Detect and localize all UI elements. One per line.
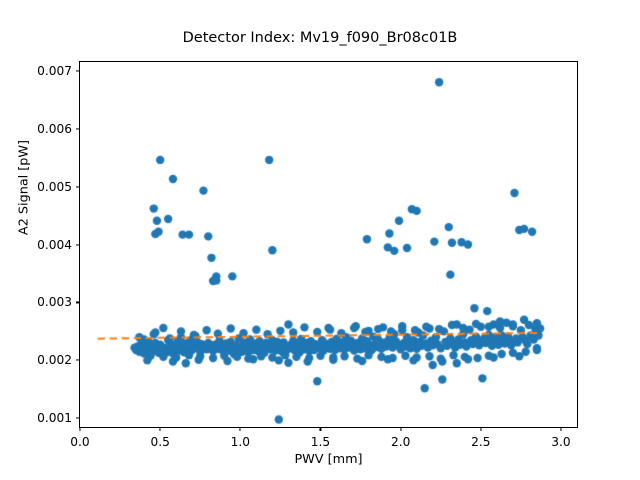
x-tick-label: 2.0	[391, 427, 410, 449]
x-tick-label: 0.0	[70, 427, 89, 449]
y-axis-label: A2 Signal [pW]	[17, 38, 32, 338]
x-tick-label: 1.5	[311, 427, 330, 449]
y-tick-label: 0.006	[37, 122, 80, 136]
x-tick-label: 2.5	[471, 427, 490, 449]
x-tick-label: 1.0	[231, 427, 250, 449]
y-tick-label: 0.004	[37, 238, 80, 252]
y-tick-label: 0.007	[37, 64, 80, 78]
x-axis-label: PWV [mm]	[79, 452, 578, 467]
scatter-plot-canvas	[80, 62, 579, 429]
figure-canvas: Detector Index: Mv19_f090_Br08c01B 0.001…	[0, 0, 640, 480]
y-tick-label: 0.005	[37, 180, 80, 194]
plot-axes: 0.0010.0020.0030.0040.0050.0060.0070.00.…	[79, 61, 578, 428]
y-tick-label: 0.003	[37, 295, 80, 309]
chart-title: Detector Index: Mv19_f090_Br08c01B	[0, 30, 640, 46]
y-tick-label: 0.001	[37, 411, 80, 425]
y-tick-label: 0.002	[37, 353, 80, 367]
x-tick-label: 0.5	[150, 427, 169, 449]
x-tick-label: 3.0	[551, 427, 570, 449]
